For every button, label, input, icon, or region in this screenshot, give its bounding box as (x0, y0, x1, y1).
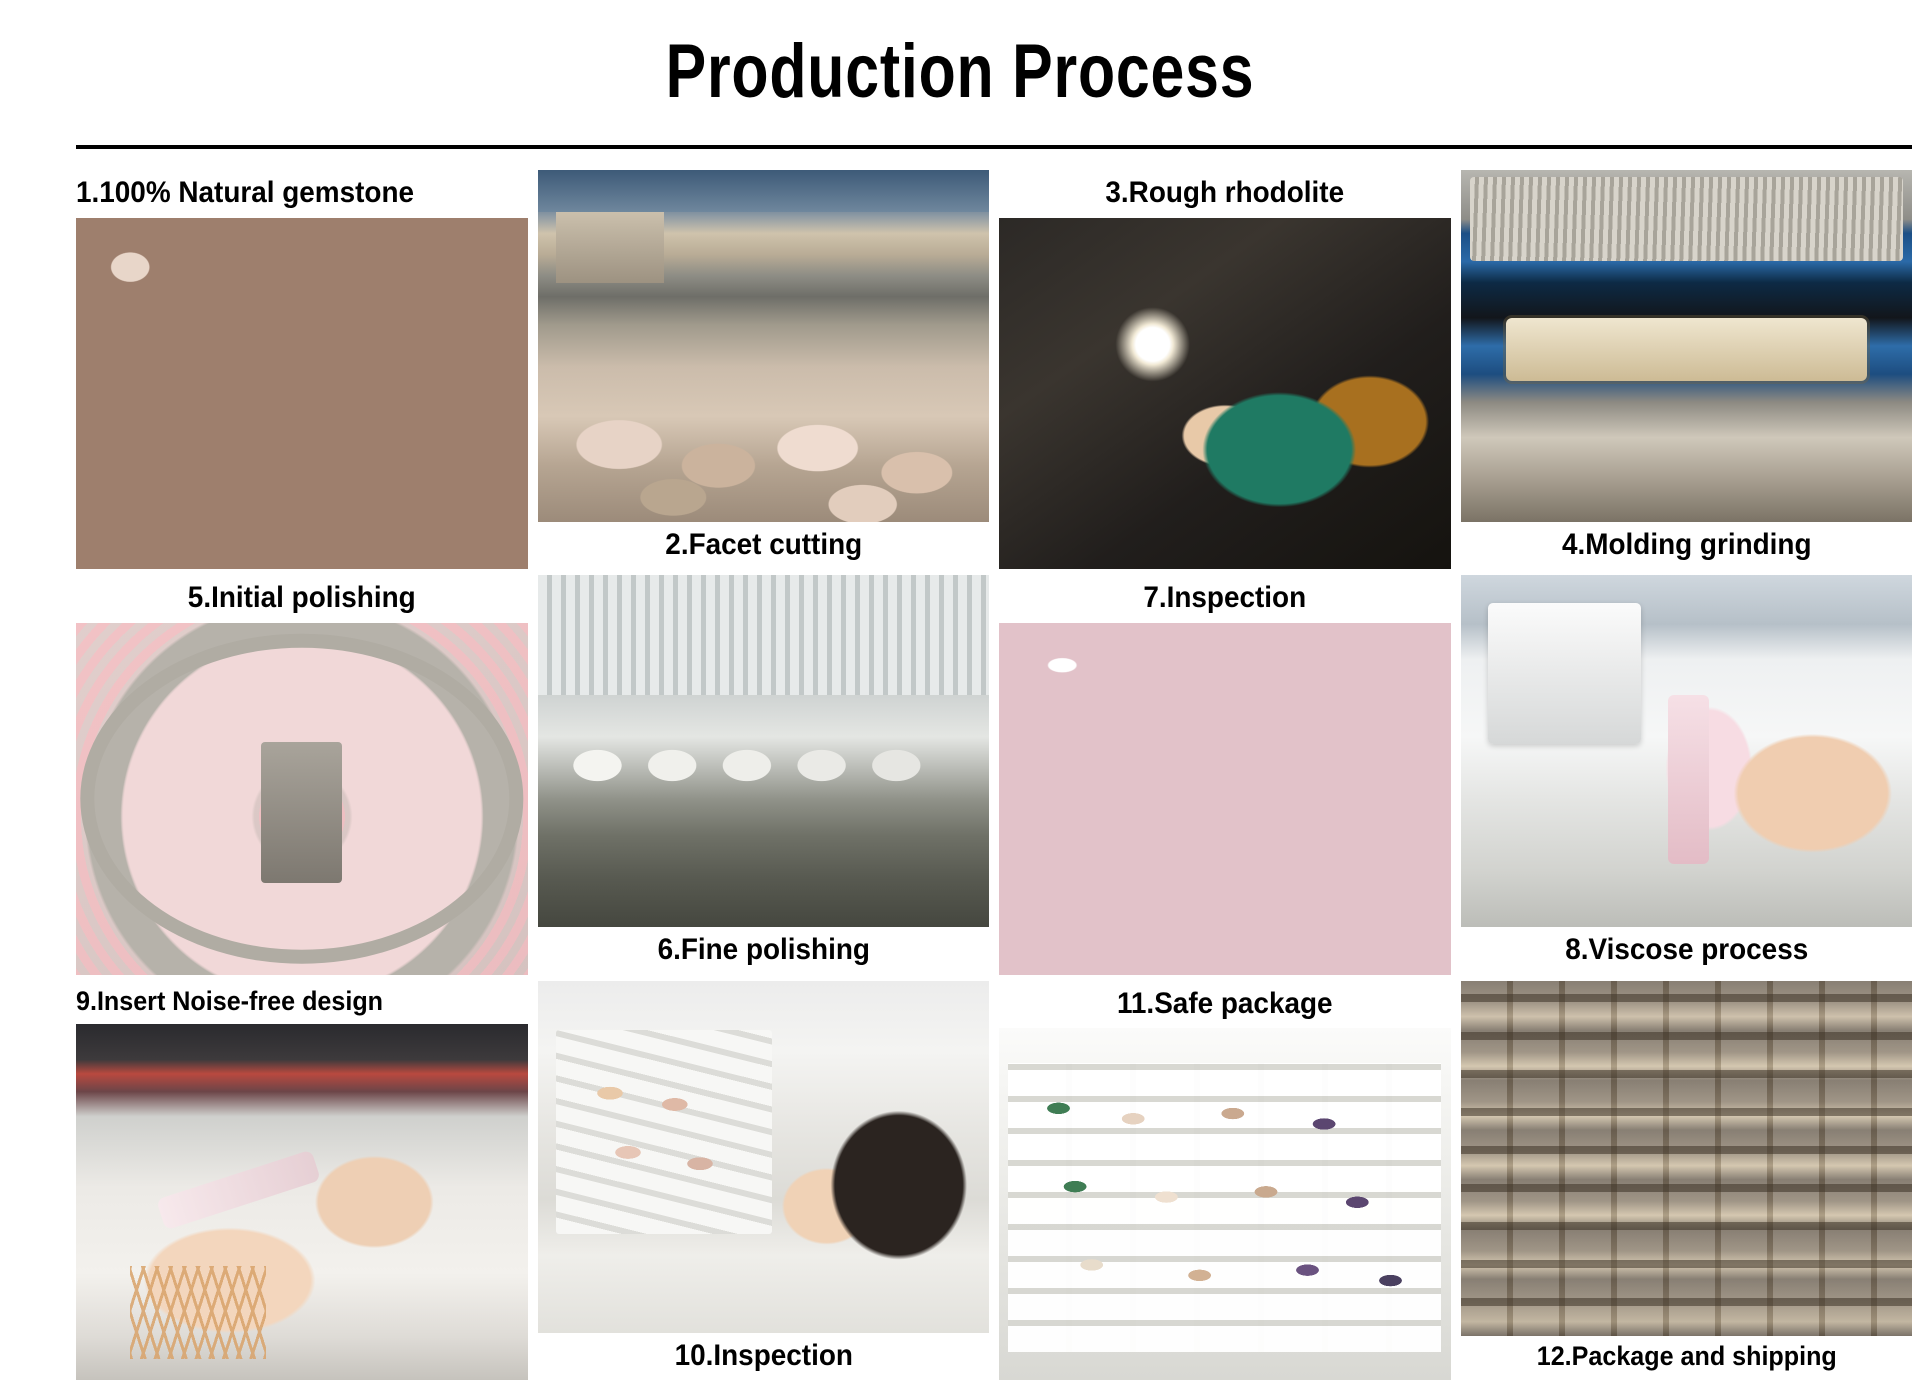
photo-pink-polished-beads-heap (999, 623, 1451, 975)
photo-viscose-glue-station (1461, 575, 1913, 927)
process-step-7: 7.Inspection (999, 575, 1451, 974)
photo-polishing-barrels-row (538, 575, 990, 927)
process-step-12: 12.Package and shipping (1461, 981, 1913, 1380)
process-step-8-label: 8.Viscose process (1476, 927, 1896, 975)
process-step-5: 5.Initial polishing (76, 575, 528, 974)
process-step-3: 3.Rough rhodolite (999, 170, 1451, 569)
process-step-9: 9.Insert Noise-free design (76, 981, 528, 1380)
photo-molding-grinding-blue-machine (1461, 170, 1913, 522)
process-step-1-label: 1.100% Natural gemstone (76, 170, 496, 218)
process-step-9-label: 9.Insert Noise-free design (76, 981, 496, 1025)
photo-facet-cutting-workshop-machines (538, 170, 990, 522)
process-step-2: 2.Facet cutting (538, 170, 990, 569)
process-step-3-label: 3.Rough rhodolite (1015, 170, 1435, 218)
production-process-poster: Production Process 1.100% Natural gemsto… (0, 0, 1920, 1400)
title-divider (76, 145, 1912, 149)
process-step-11: 11.Safe package (999, 981, 1451, 1380)
process-step-10-label: 10.Inspection (553, 1333, 973, 1381)
photo-worker-cutting-rough-rhodolite (999, 218, 1451, 570)
process-step-5-label: 5.Initial polishing (92, 575, 512, 623)
photo-warehouse-shelving-cartons (1461, 981, 1913, 1337)
process-step-4-label: 4.Molding grinding (1476, 522, 1896, 570)
process-step-7-label: 7.Inspection (1015, 575, 1435, 623)
process-step-6-label: 6.Fine polishing (553, 927, 973, 975)
process-step-2-label: 2.Facet cutting (553, 522, 973, 570)
photo-worker-inspecting-foam-trays (538, 981, 990, 1333)
page-title-wrap: Production Process (0, 28, 1920, 115)
photo-rough-pink-gemstone-rubble (76, 218, 528, 570)
process-step-1: 1.100% Natural gemstone (76, 170, 528, 569)
process-step-11-label: 11.Safe package (1015, 981, 1435, 1029)
photo-packed-trays-of-rollers (999, 1028, 1451, 1380)
process-step-4: 4.Molding grinding (1461, 170, 1913, 569)
photo-assembling-roller-hands (76, 1024, 528, 1380)
process-step-12-label: 12.Package and shipping (1476, 1336, 1896, 1380)
process-step-6: 6.Fine polishing (538, 575, 990, 974)
process-step-8: 8.Viscose process (1461, 575, 1913, 974)
photo-tumbler-drum-pink-pebbles (76, 623, 528, 975)
process-step-10: 10.Inspection (538, 981, 990, 1380)
process-step-grid: 1.100% Natural gemstone 2.Facet cutting … (76, 170, 1912, 1380)
page-title: Production Process (192, 28, 1728, 115)
